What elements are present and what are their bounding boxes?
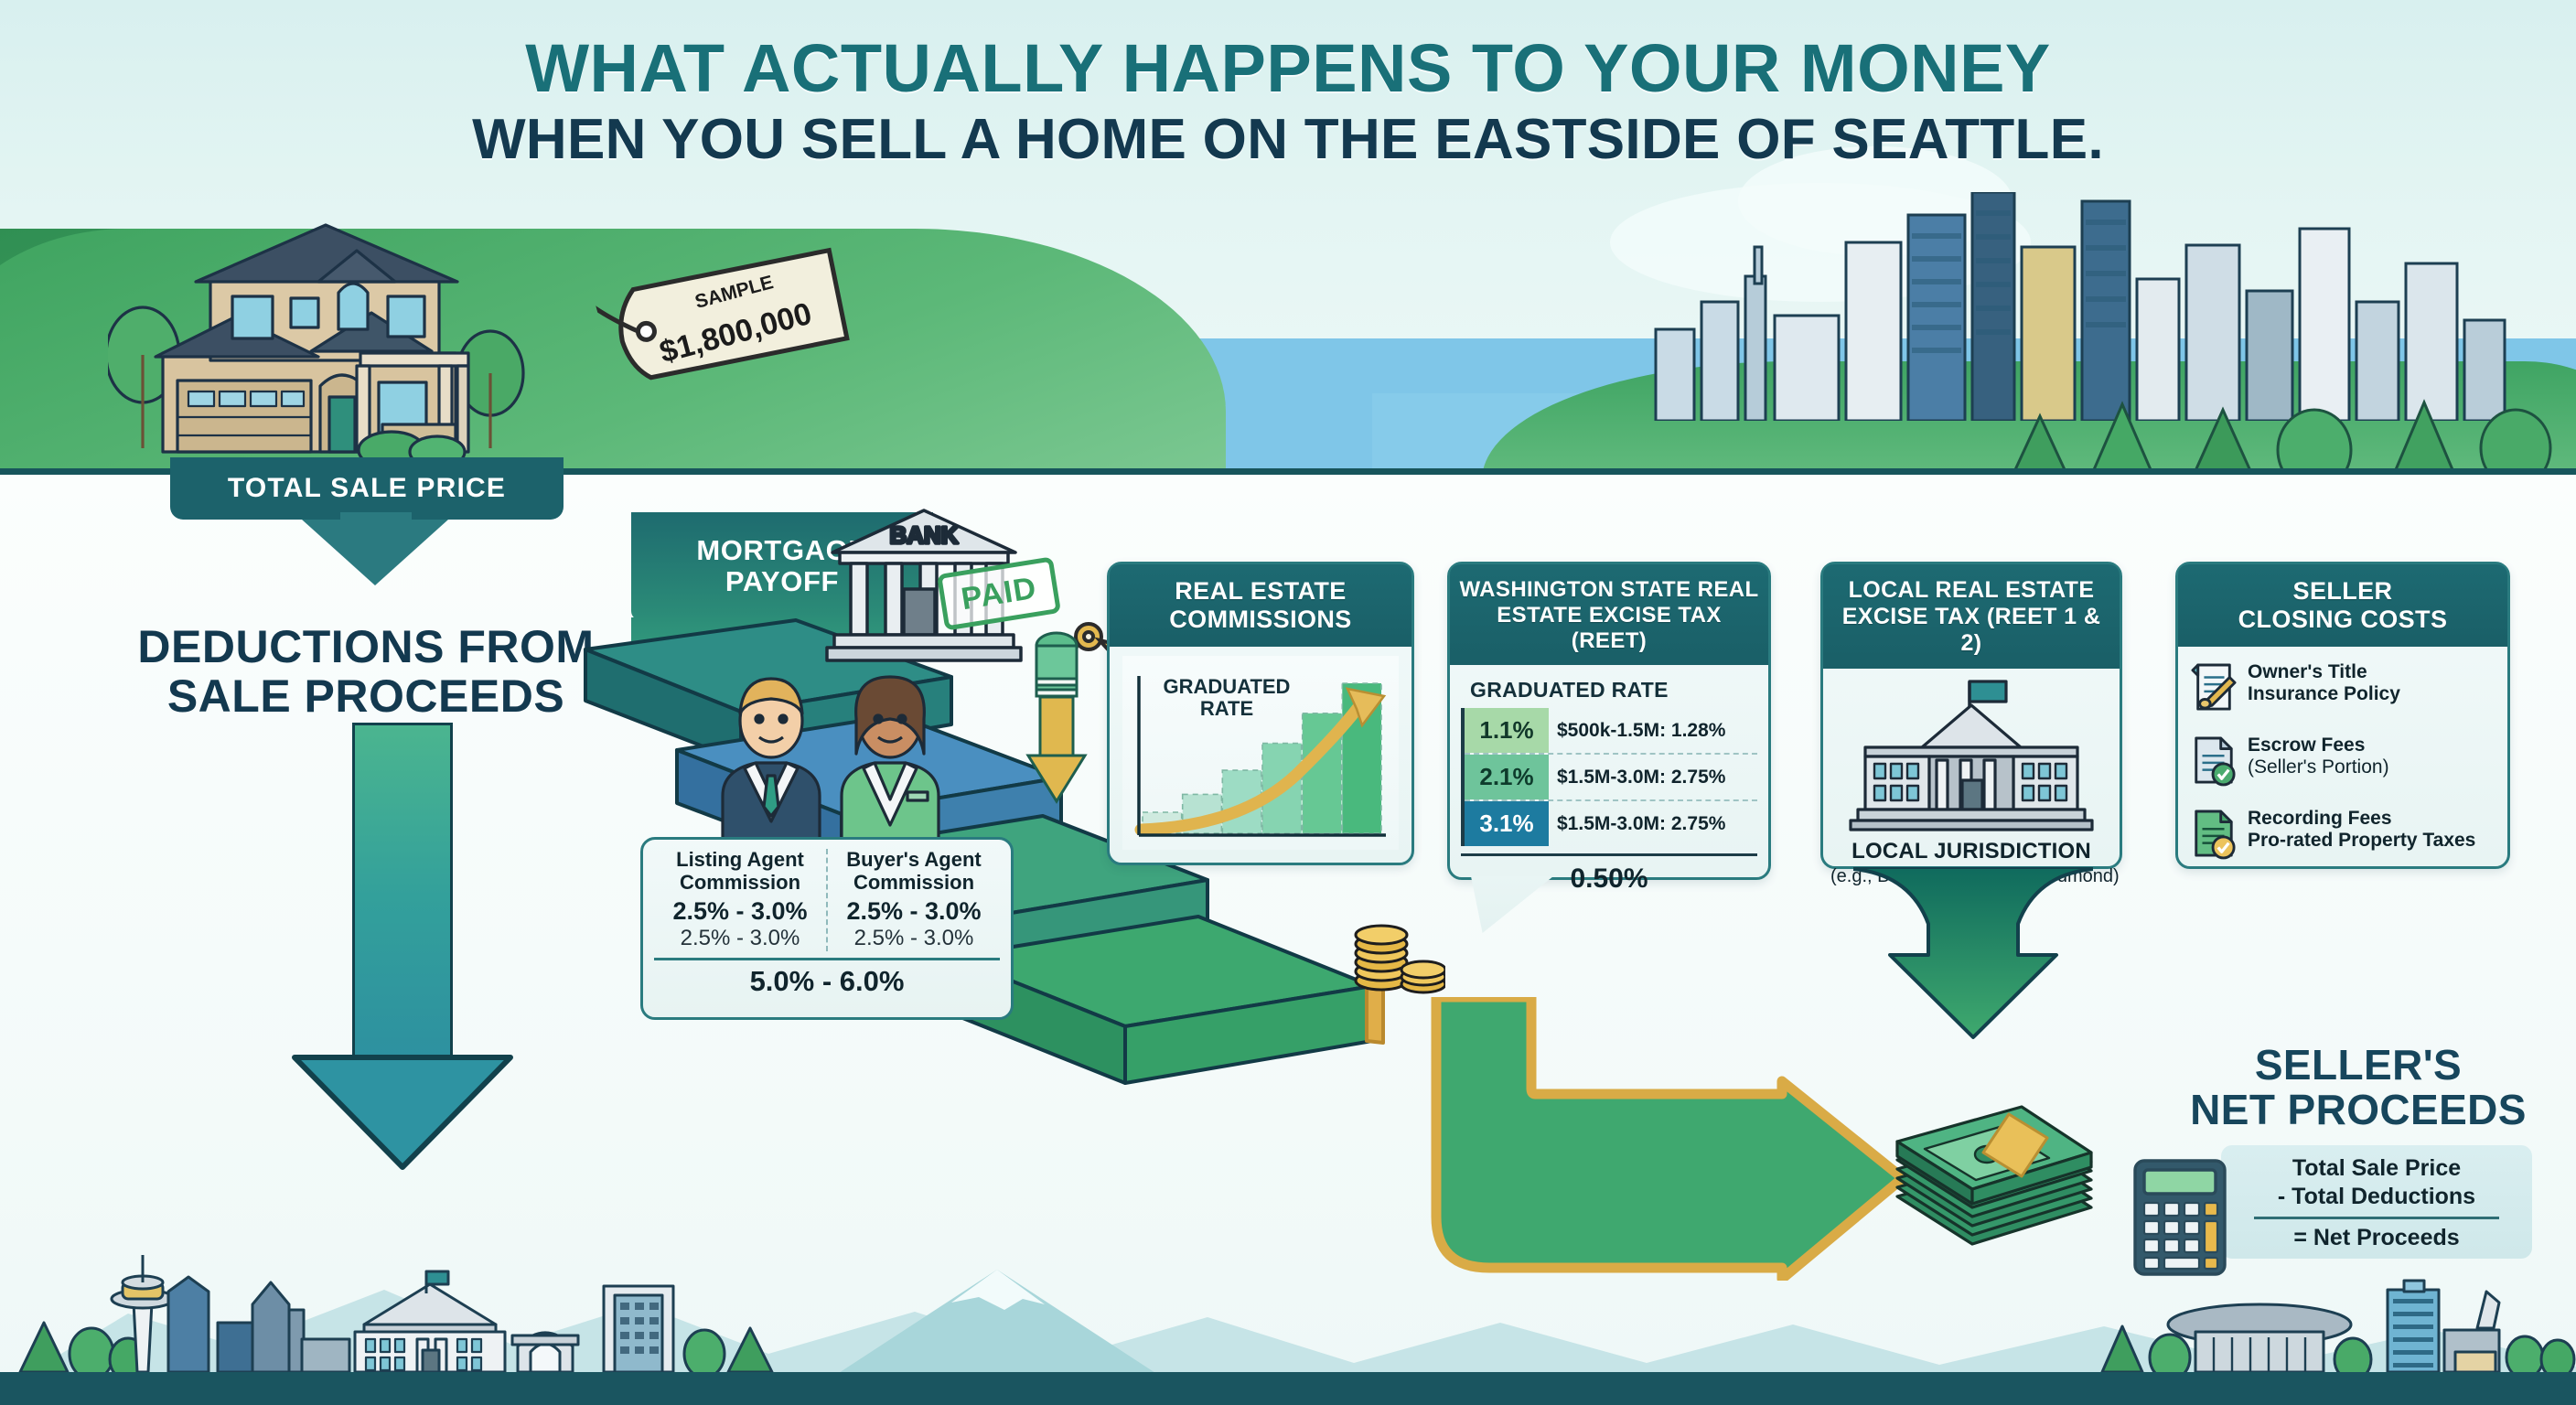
courthouse-icon — [1834, 678, 2109, 833]
listing-agent-range-bold: 2.5% - 3.0% — [654, 897, 826, 926]
agents-illustration — [695, 659, 970, 851]
paid-stamp-label: PAID — [959, 570, 1039, 617]
total-sale-price-banner: TOTAL SALE PRICE — [170, 457, 563, 520]
reet-header-line2: ESTATE EXCISE TAX (REET) — [1457, 603, 1761, 654]
closing-header-line1: SELLER — [2185, 577, 2500, 606]
closing-cost-line1: Escrow Fees — [2248, 735, 2389, 757]
listing-agent-header-line2: Commission — [654, 872, 826, 895]
infographic-canvas: SAMPLE $1,800,000 SAMPLE $1,800,000 TOTA… — [0, 0, 2576, 1405]
panel-header-commissions: REAL ESTATE COMMISSIONS — [1110, 564, 1411, 647]
bellevue-landmarks-icons — [2086, 1273, 2576, 1379]
deductions-arrow-head-icon — [291, 1052, 514, 1171]
document-icon — [2191, 661, 2237, 719]
page-title: WHAT ACTUALLY HAPPENS TO YOUR MONEY WHEN… — [0, 35, 2576, 171]
chart-label-line2: RATE — [1163, 698, 1291, 720]
closing-cost-line2: (Seller's Portion) — [2248, 756, 2389, 779]
reet-rate-table: 1.1%$500k-1.5M: 1.28%2.1%$1.5M-3.0M: 2.7… — [1461, 708, 1757, 846]
bank-label: BANK — [889, 521, 958, 549]
title-line-1: WHAT ACTUALLY HAPPENS TO YOUR MONEY — [0, 35, 2576, 102]
net-proceeds-title-line1: SELLER'S — [2184, 1043, 2532, 1088]
closing-cost-line1: Owner's Title — [2248, 661, 2400, 684]
commissions-header-line1: REAL ESTATE — [1117, 577, 1404, 606]
closing-cost-item: Owner's TitleInsurance Policy — [2191, 661, 2495, 719]
closing-cost-line2: Insurance Policy — [2248, 683, 2400, 706]
reet-rate-row: 1.1%$500k-1.5M: 1.28% — [1465, 708, 1757, 755]
closing-cost-line2: Pro-rated Property Taxes — [2248, 830, 2475, 853]
reet-rate-chip: 1.1% — [1465, 708, 1549, 753]
funnel-arrow-icon — [1025, 631, 1089, 805]
panel-header-local-reet: LOCAL REAL ESTATE EXCISE TAX (REET 1 & 2… — [1823, 564, 2120, 669]
deductions-heading-line1: DEDUCTIONS FROM — [101, 622, 631, 671]
closing-cost-label: Owner's TitleInsurance Policy — [2248, 661, 2400, 707]
closing-cost-label: Recording FeesPro-rated Property Taxes — [2248, 808, 2475, 853]
listing-agent-range-plain: 2.5% - 3.0% — [654, 926, 826, 951]
closing-cost-item: Recording FeesPro-rated Property Taxes — [2191, 808, 2495, 865]
reet-rate-bracket-text: $1.5M-3.0M: 2.75% — [1549, 801, 1757, 846]
listing-agent-header-line1: Listing Agent — [654, 849, 826, 872]
reet-rate-chip: 3.1% — [1465, 801, 1549, 846]
buyer-agent-header-line1: Buyer's Agent — [828, 849, 1000, 872]
local-header-line1: LOCAL REAL ESTATE — [1830, 577, 2112, 604]
reet-rate-bracket-text: $500k-1.5M: 1.28% — [1549, 708, 1757, 753]
house-icon — [108, 218, 593, 483]
reet-rate-bracket-text: $1.5M-3.0M: 2.75% — [1549, 755, 1757, 799]
buyer-agent-range-plain: 2.5% - 3.0% — [828, 926, 1000, 951]
reet-graduated-rate-label: GRADUATED RATE — [1461, 678, 1757, 702]
panel-local-reet: LOCAL REAL ESTATE EXCISE TAX (REET 1 & 2… — [1820, 562, 2122, 869]
sale-price-arrow-head-icon — [302, 520, 448, 585]
closing-cost-label: Escrow Fees(Seller's Portion) — [2248, 735, 2389, 780]
net-proceeds-title: SELLER'S NET PROCEEDS — [2184, 1043, 2532, 1132]
document-icon — [2191, 735, 2237, 792]
reet-header-line1: WASHINGTON STATE REAL — [1457, 577, 1761, 603]
deductions-arrow-stem — [352, 723, 453, 1066]
buyer-agent-column: Buyer's Agent Commission 2.5% - 3.0% 2.5… — [828, 849, 1000, 951]
document-icon — [2191, 808, 2237, 865]
commissions-header-line2: COMMISSIONS — [1117, 606, 1404, 634]
reet-rate-row: 2.1%$1.5M-3.0M: 2.75% — [1465, 755, 1757, 801]
chart-label-line1: GRADUATED — [1163, 676, 1291, 698]
closing-cost-item: Escrow Fees(Seller's Portion) — [2191, 735, 2495, 792]
total-sale-price-label: TOTAL SALE PRICE — [228, 473, 506, 504]
deductions-heading: DEDUCTIONS FROM SALE PROCEEDS — [101, 622, 631, 721]
panel-header-wa-reet: WASHINGTON STATE REAL ESTATE EXCISE TAX … — [1450, 564, 1768, 665]
graduated-rate-chart-label: GRADUATED RATE — [1163, 676, 1291, 720]
commission-total-range: 5.0% - 6.0% — [654, 958, 1000, 998]
coin-stack-icon — [1345, 915, 1445, 997]
reet-rate-chip: 2.1% — [1465, 755, 1549, 799]
formula-total-sale-price: Total Sale Price — [2234, 1154, 2519, 1183]
reet-rate-row: 3.1%$1.5M-3.0M: 2.75% — [1465, 801, 1757, 846]
local-header-line2: EXCISE TAX (REET 1 & 2) — [1830, 604, 2112, 657]
panel-header-closing-costs: SELLER CLOSING COSTS — [2178, 564, 2507, 647]
panel-wa-state-reet: WASHINGTON STATE REAL ESTATE EXCISE TAX … — [1447, 562, 1771, 880]
closing-cost-line1: Recording Fees — [2248, 808, 2475, 831]
title-line-2: WHEN YOU SELL A HOME ON THE EASTSIDE OF … — [0, 108, 2576, 171]
panel-seller-closing-costs: SELLER CLOSING COSTS Owner's TitleInsura… — [2175, 562, 2510, 869]
panel-real-estate-commissions: REAL ESTATE COMMISSIONS GRADUATED RATE — [1107, 562, 1414, 865]
listing-agent-column: Listing Agent Commission 2.5% - 3.0% 2.5… — [654, 849, 828, 951]
local-jurisdiction-label: LOCAL JURISDICTION — [1830, 839, 2112, 864]
buyer-agent-header-line2: Commission — [828, 872, 1000, 895]
tree-cluster-icon — [1994, 329, 2576, 489]
closing-header-line2: CLOSING COSTS — [2185, 606, 2500, 634]
deductions-heading-line2: SALE PROCEEDS — [101, 671, 631, 721]
commission-breakdown-box: Listing Agent Commission 2.5% - 3.0% 2.5… — [640, 837, 1014, 1020]
buyer-agent-range-bold: 2.5% - 3.0% — [828, 897, 1000, 926]
seattle-landmarks-icons — [0, 1251, 915, 1379]
formula-total-deductions: - Total Deductions — [2234, 1183, 2519, 1211]
graduated-rate-chart: GRADUATED RATE — [1122, 656, 1399, 850]
net-proceeds-title-line2: NET PROCEEDS — [2184, 1088, 2532, 1132]
ground-strip — [0, 1372, 2576, 1405]
